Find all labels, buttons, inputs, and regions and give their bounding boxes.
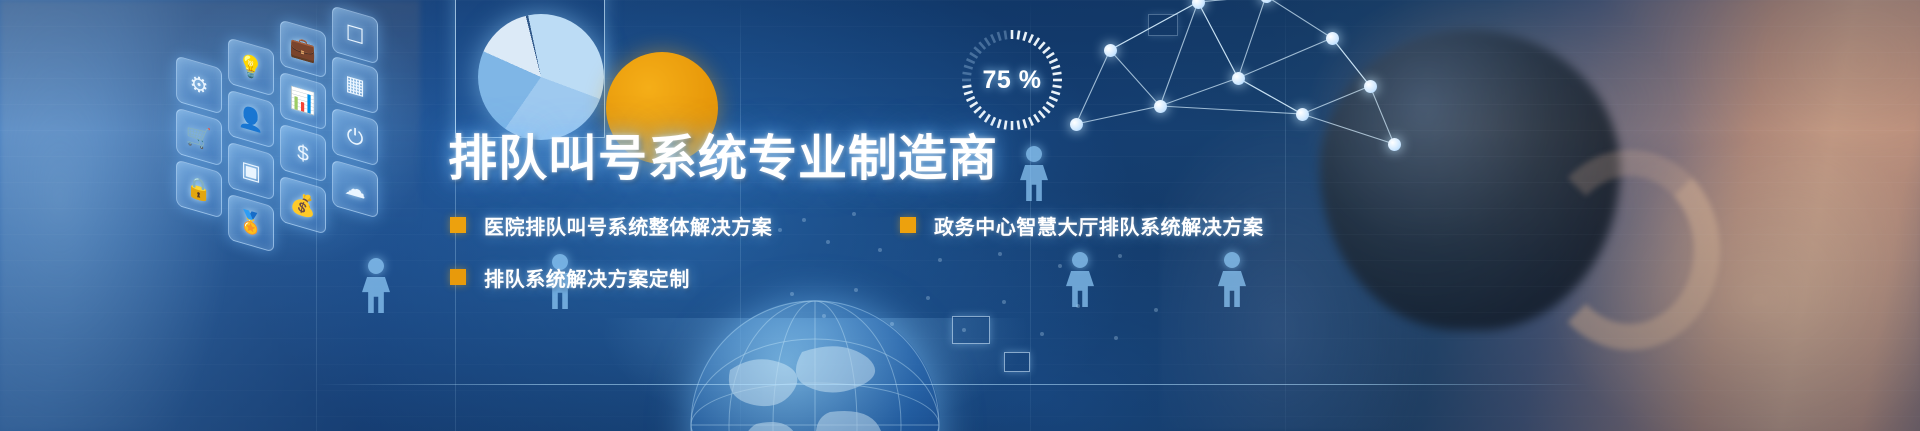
bullet-item-government: 政务中心智慧大厅排队系统解决方案	[900, 205, 1264, 245]
orange-square-marker	[900, 217, 916, 233]
banner-headline: 排队叫号系统专业制造商	[448, 135, 998, 184]
bullet-label: 政务中心智慧大厅排队系统解决方案	[934, 211, 1264, 240]
bullet-label: 医院排队叫号系统整体解决方案	[484, 211, 772, 240]
promo-banner: ⚙ 💡 💼 ☐ 🛒 👤 📊 ▦ 🔒 ▣ $ ⏻ 🏅 💰 ☁ 75 %	[0, 0, 1920, 431]
orange-square-marker	[450, 269, 466, 285]
orange-square-marker	[450, 217, 466, 233]
banner-content: 排队叫号系统专业制造商 医院排队叫号系统整体解决方案 排队系统解决方案定制 政务…	[0, 0, 1920, 431]
bullet-item-hospital: 医院排队叫号系统整体解决方案	[450, 205, 772, 245]
bullet-label: 排队系统解决方案定制	[484, 263, 690, 292]
bullet-item-custom: 排队系统解决方案定制	[450, 257, 690, 297]
